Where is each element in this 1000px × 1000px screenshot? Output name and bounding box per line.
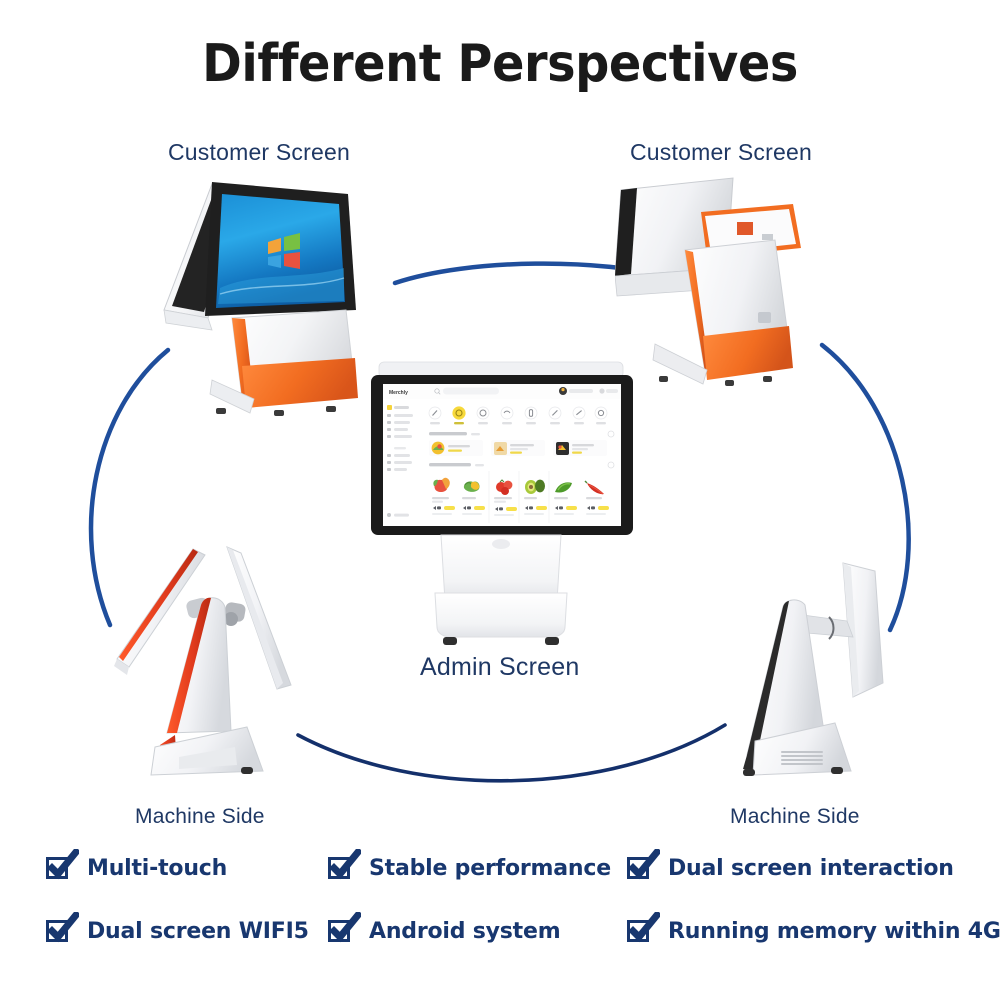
feature-label: Running memory within 4G (668, 919, 1000, 944)
feature-list: Multi-touch Stable performance Dual scre… (0, 845, 1000, 975)
page-title: Different Perspectives (40, 34, 960, 94)
poster-canvas: Different Perspectives Customer Screen C… (0, 0, 1000, 1000)
feature-item-running-memory-4g: Running memory within 4G (627, 917, 1000, 945)
checkbox-checked-icon (46, 854, 74, 882)
feature-label: Stable performance (369, 856, 611, 881)
label-admin-screen: Admin Screen (420, 653, 579, 682)
inspiration-cards (429, 440, 607, 456)
feature-item-stable-performance: Stable performance (328, 854, 611, 882)
checkbox-checked-icon (627, 917, 655, 945)
device-pos-side-white (725, 555, 935, 805)
feature-label: Dual screen interaction (668, 856, 954, 881)
label-machine-side-right: Machine Side (730, 805, 860, 829)
label-machine-side-left: Machine Side (135, 805, 265, 829)
checkbox-checked-icon (328, 917, 356, 945)
pedestal (210, 310, 358, 416)
hinge-arm (803, 615, 853, 639)
main-screen (205, 182, 356, 316)
device-pos-rear-customer-display (615, 168, 865, 418)
label-customer-screen-left: Customer Screen (168, 139, 350, 166)
base (151, 727, 263, 775)
feature-item-dual-screen-interaction: Dual screen interaction (627, 854, 954, 882)
section-heading-2 (429, 463, 471, 466)
device-pos-side-red (105, 535, 340, 800)
feature-item-android-system: Android system (328, 917, 560, 945)
feature-label: Android system (369, 919, 560, 944)
device-pos-admin-terminal: Merchly (355, 355, 645, 650)
checkbox-checked-icon (627, 854, 655, 882)
admin-screen-content: Merchly (383, 384, 621, 526)
feature-label: Multi-touch (87, 856, 227, 881)
checkbox-checked-icon (46, 917, 74, 945)
section-heading-1 (429, 432, 467, 435)
checkbox-checked-icon (328, 854, 356, 882)
label-customer-screen-right: Customer Screen (630, 139, 812, 166)
feature-label: Dual screen WIFI5 (87, 919, 309, 944)
svg-text:Merchly: Merchly (389, 390, 408, 396)
feature-item-dual-screen-wifi5: Dual screen WIFI5 (46, 917, 309, 945)
feature-item-multi-touch: Multi-touch (46, 854, 227, 882)
pedestal-stand (435, 535, 567, 645)
